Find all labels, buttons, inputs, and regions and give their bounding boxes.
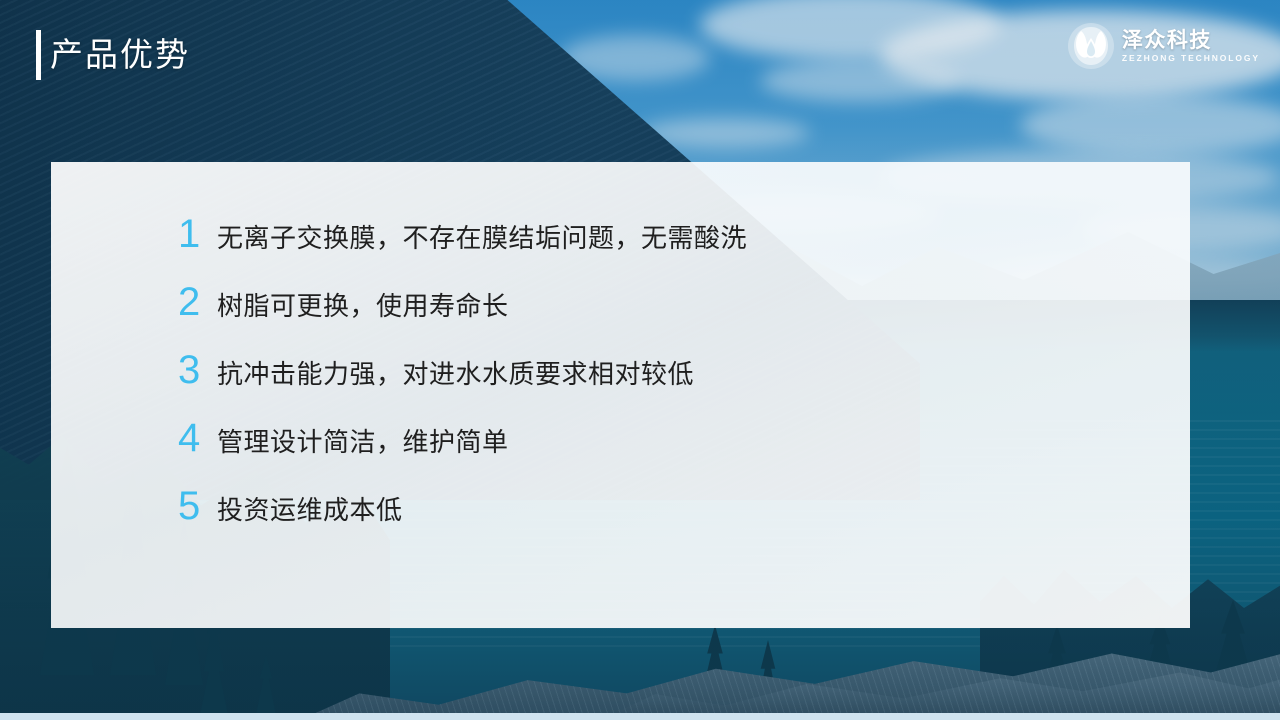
logo-wordmark: 泽众科技 ZEZHONG TECHNOLOGY (1122, 29, 1260, 64)
title-accent-bar (36, 30, 41, 80)
list-item: 3 抗冲击能力强，对进水水质要求相对较低 (178, 350, 1160, 418)
list-item: 5 投资运维成本低 (178, 486, 1160, 554)
list-item-number: 2 (178, 282, 208, 322)
slide-root: 产品优势 泽众科技 ZEZHONG TECHNOLOGY 1 无离子交换膜，不存… (0, 0, 1280, 720)
list-item: 1 无离子交换膜，不存在膜结垢问题，无需酸洗 (178, 214, 1160, 282)
title-label: 产品优势 (50, 30, 190, 80)
list-item-text: 无离子交换膜，不存在膜结垢问题，无需酸洗 (217, 225, 747, 251)
list-item-number: 4 (178, 418, 208, 458)
list-item: 2 树脂可更换，使用寿命长 (178, 282, 1160, 350)
brand-logo: 泽众科技 ZEZHONG TECHNOLOGY (1067, 22, 1260, 70)
list-item-number: 3 (178, 350, 208, 390)
list-item-text: 树脂可更换，使用寿命长 (217, 293, 509, 319)
advantages-list: 1 无离子交换膜，不存在膜结垢问题，无需酸洗 2 树脂可更换，使用寿命长 3 抗… (178, 214, 1160, 554)
list-item-number: 5 (178, 486, 208, 526)
list-item-number: 1 (178, 214, 208, 254)
list-item-text: 投资运维成本低 (217, 497, 403, 523)
list-item-text: 管理设计简洁，维护简单 (217, 429, 509, 455)
list-item-text: 抗冲击能力强，对进水水质要求相对较低 (217, 361, 694, 387)
list-item: 4 管理设计简洁，维护简单 (178, 418, 1160, 486)
page-title: 产品优势 (36, 30, 190, 80)
bottom-accent-strip (0, 713, 1280, 720)
zezhong-water-drop-emblem-icon (1067, 22, 1115, 70)
logo-name-en: ZEZHONG TECHNOLOGY (1122, 52, 1260, 64)
content-panel: 1 无离子交换膜，不存在膜结垢问题，无需酸洗 2 树脂可更换，使用寿命长 3 抗… (51, 162, 1190, 628)
logo-name-cn: 泽众科技 (1122, 29, 1260, 52)
